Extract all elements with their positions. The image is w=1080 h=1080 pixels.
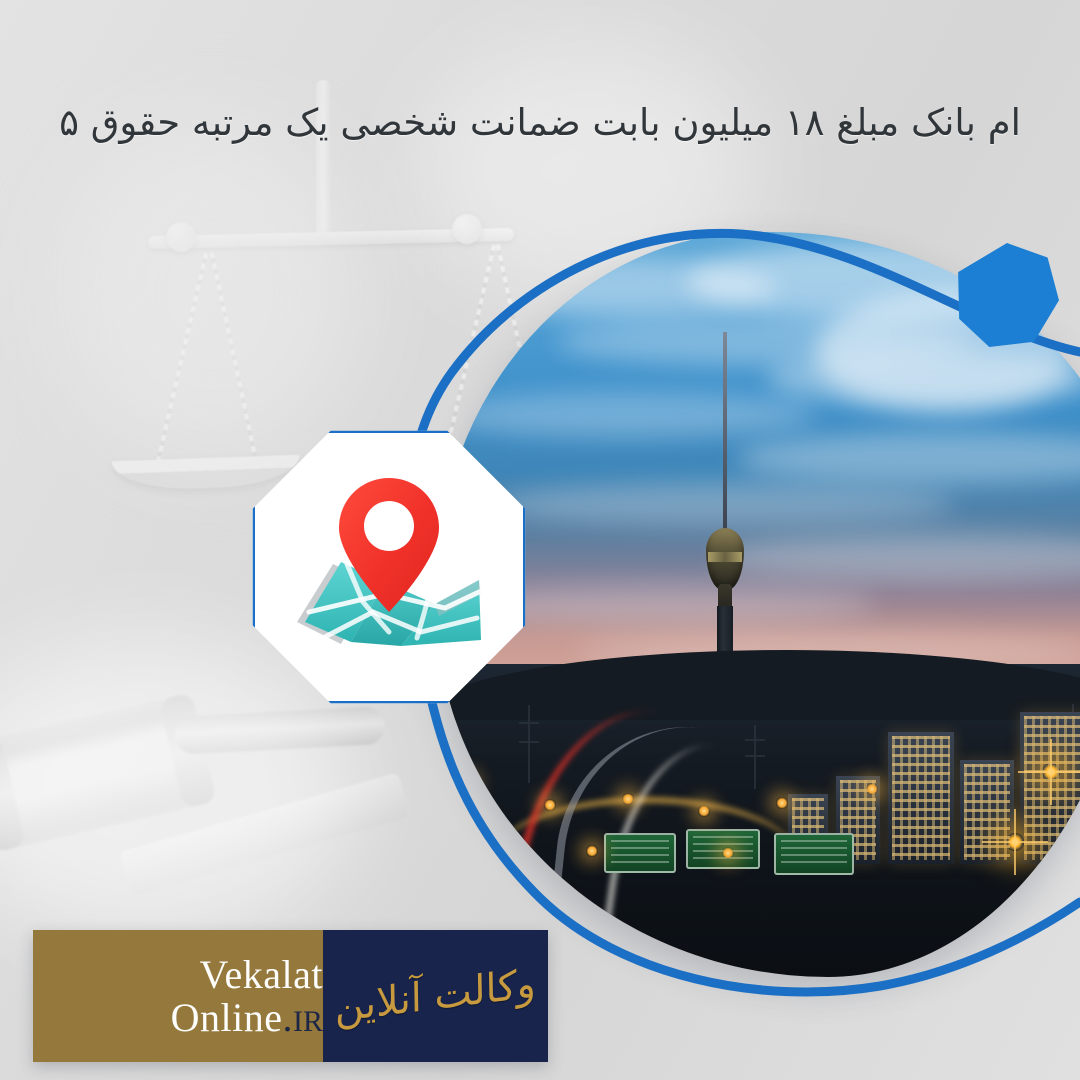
background-glow	[60, 120, 360, 460]
location-map-badge	[250, 428, 528, 706]
green-road-sign	[604, 833, 676, 873]
light-starburst	[1006, 833, 1024, 851]
cover-canvas: ام بانک مبلغ ۱۸ میلیون بابت ضمانت شخصی ی…	[0, 0, 1080, 1080]
logo-mark-panel: وکالت آنلاین	[323, 930, 548, 1062]
site-logo[interactable]: وکالت آنلاین Vekalat Online.IR	[33, 930, 548, 1062]
street-lamp	[722, 847, 734, 859]
cloud	[436, 392, 816, 438]
street-lamp	[698, 805, 710, 817]
logo-line-one: Vekalat	[200, 953, 323, 996]
logo-line-two: Online.IR	[171, 996, 323, 1039]
scales-pan-left	[112, 455, 301, 492]
logo-tld: IR	[293, 1005, 323, 1038]
cloud	[766, 352, 1080, 406]
tehran-photo-blob	[436, 232, 1080, 977]
street-lamp	[776, 797, 788, 809]
light-starburst	[1042, 763, 1060, 781]
logo-line-two-text: Online	[171, 995, 283, 1040]
street-lamp	[544, 799, 556, 811]
cloud	[736, 432, 1080, 484]
city-building	[888, 732, 954, 864]
logo-dot: .	[283, 995, 294, 1040]
green-road-sign	[774, 833, 854, 875]
street-lamp	[462, 777, 474, 789]
street-lamp	[622, 793, 634, 805]
milad-tower-mast	[723, 332, 727, 532]
street-lamp	[586, 845, 598, 857]
map-with-pin-icon	[289, 472, 489, 662]
cloud	[716, 532, 1080, 582]
logo-persian-script: وکالت آنلاین	[335, 964, 537, 1029]
headline-text: ام بانک مبلغ ۱۸ میلیون بابت ضمانت شخصی ی…	[0, 98, 1080, 148]
city-building	[960, 760, 1014, 864]
street-lamp	[866, 783, 878, 795]
logo-wordmark-panel: Vekalat Online.IR	[33, 930, 323, 1062]
transmission-pylon	[528, 705, 530, 783]
milad-tower-pod	[706, 528, 744, 590]
tehran-photo	[436, 232, 1080, 977]
